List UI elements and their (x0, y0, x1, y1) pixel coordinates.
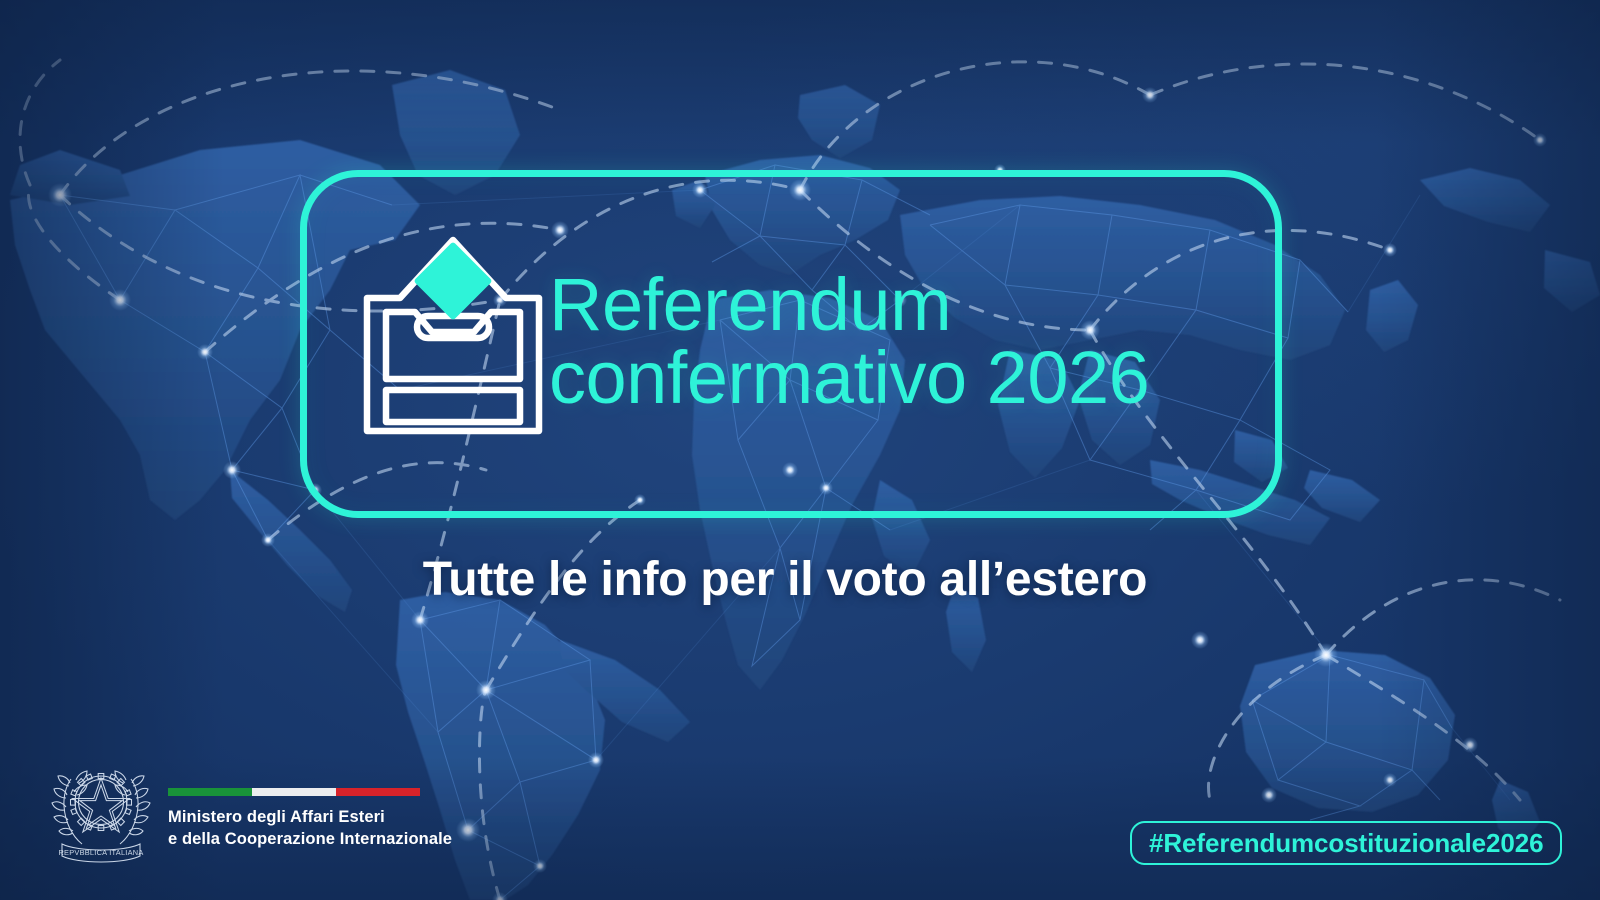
flag-segment-green (168, 788, 252, 796)
referendum-banner: Referendum confermativo 2026 Tutte le in… (0, 0, 1600, 900)
flag-segment-white (252, 788, 336, 796)
flag-segment-red (336, 788, 420, 796)
hashtag-badge[interactable]: #Referendumcostituzionale2026 (1130, 821, 1562, 865)
ministry-text-block: Ministero degli Affari Esteri e della Co… (168, 752, 452, 851)
italian-flag-bar (168, 788, 420, 796)
ministry-name: Ministero degli Affari Esteri e della Co… (168, 807, 452, 851)
hero-subtitle: Tutte le info per il voto all’estero (0, 552, 1570, 607)
ballot-box-icon (360, 228, 546, 438)
ministry-lockup: REPVBBLICA ITALIANA Ministero degli Affa… (48, 752, 452, 862)
hero-title: Referendum confermativo 2026 (549, 268, 1269, 415)
emblem-ribbon-text: REPVBBLICA ITALIANA (58, 848, 143, 857)
italian-republic-emblem: REPVBBLICA ITALIANA (48, 752, 154, 864)
